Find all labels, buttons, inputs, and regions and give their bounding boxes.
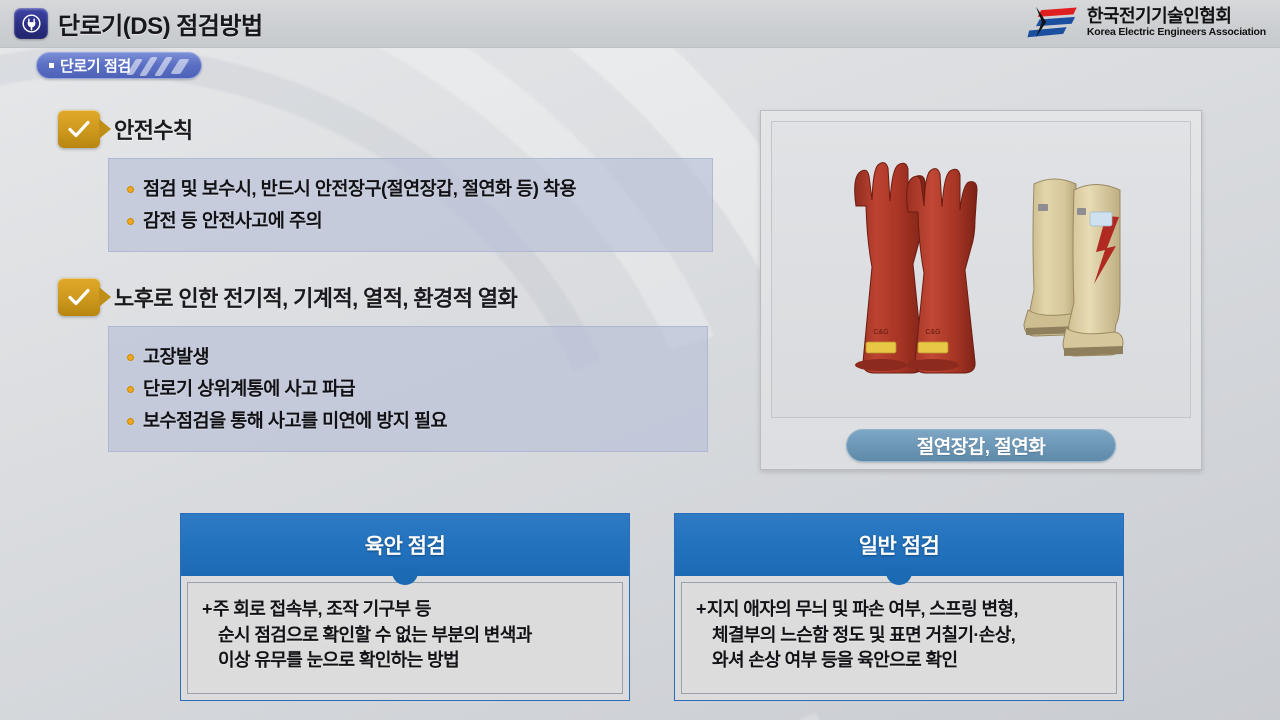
association-name-ko: 한국전기기술인협회 [1087, 7, 1266, 25]
bullet-text: 감전 등 안전사고에 주의 [143, 209, 322, 233]
section-header: 안전수칙 [58, 110, 713, 148]
bullet-text: 보수점검을 통해 사고를 미연에 방지 필요 [143, 409, 447, 433]
photo-panel: C&G C&G [760, 110, 1202, 470]
card-header: 일반 점검 [675, 514, 1123, 576]
bullet-box: 고장발생 단로기 상위계통에 사고 파급 보수점검을 통해 사고를 미연에 방지… [108, 326, 708, 452]
subtitle-label: 단로기 점검 [60, 55, 131, 76]
slide-canvas: 단로기(DS) 점검방법 단로기 점검 한국전기기술인협회 Korea Elec… [0, 0, 1280, 720]
association-names: 한국전기기술인협회 Korea Electric Engineers Assoc… [1087, 7, 1266, 38]
card-title: 육안 점검 [365, 530, 446, 560]
subtitle-bullet-icon [49, 63, 54, 68]
title-row: 단로기(DS) 점검방법 [10, 6, 263, 41]
svg-text:C&G: C&G [925, 329, 940, 336]
card-line-text: 지지 애자의 무늬 및 파손 여부, 스프링 변형, [707, 599, 1018, 619]
bullet-row: 보수점검을 통해 사고를 미연에 방지 필요 [127, 405, 687, 437]
disconnector-plug-icon [14, 8, 48, 39]
card-line: 체결부의 느슨함 정도 및 표면 거칠기·손상, [696, 623, 1102, 649]
card-body: +지지 애자의 무늬 및 파손 여부, 스프링 변형, 체결부의 느슨함 정도 … [681, 582, 1117, 694]
bullet-dot-icon [127, 354, 134, 361]
check-badge-icon [58, 278, 100, 316]
card-visual-inspection: 육안 점검 +주 회로 접속부, 조작 기구부 등 순시 점검으로 확인할 수 … [180, 513, 630, 701]
bullet-row: 단로기 상위계통에 사고 파급 [127, 373, 687, 405]
subtitle-pill[interactable]: 단로기 점검 [36, 52, 202, 79]
section-title: 노후로 인한 전기적, 기계적, 열적, 환경적 열화 [114, 281, 517, 313]
plus-marker-icon: + [202, 599, 212, 619]
card-line: 이상 유무를 눈으로 확인하는 방법 [202, 648, 608, 674]
bullet-box: 점검 및 보수시, 반드시 안전장구(절연장갑, 절연화 등) 착용 감전 등 … [108, 158, 713, 252]
bullet-dot-icon [127, 218, 134, 225]
card-line-text: 주 회로 접속부, 조작 기구부 등 [213, 599, 431, 619]
bullet-row: 점검 및 보수시, 반드시 안전장구(절연장갑, 절연화 등) 착용 [127, 173, 692, 205]
bullet-dot-icon [127, 186, 134, 193]
section-safety-rules: 안전수칙 점검 및 보수시, 반드시 안전장구(절연장갑, 절연화 등) 착용 … [58, 110, 713, 252]
section-header: 노후로 인한 전기적, 기계적, 열적, 환경적 열화 [58, 278, 713, 316]
bullet-row: 고장발생 [127, 341, 687, 373]
card-general-inspection: 일반 점검 +지지 애자의 무늬 및 파손 여부, 스프링 변형, 체결부의 느… [674, 513, 1124, 701]
svg-text:C&G: C&G [873, 329, 888, 336]
bullet-text: 점검 및 보수시, 반드시 안전장구(절연장갑, 절연화 등) 착용 [143, 177, 576, 201]
kea-logo-mark [1027, 5, 1079, 39]
page-title: 단로기(DS) 점검방법 [58, 6, 263, 41]
bullet-dot-icon [127, 418, 134, 425]
card-line: +주 회로 접속부, 조작 기구부 등 [202, 597, 608, 623]
check-badge-icon [58, 110, 100, 148]
bullet-text: 단로기 상위계통에 사고 파급 [143, 377, 355, 401]
card-body: +주 회로 접속부, 조작 기구부 등 순시 점검으로 확인할 수 없는 부분의… [187, 582, 623, 694]
bullet-text: 고장발생 [143, 345, 209, 369]
association-logo: 한국전기기술인협회 Korea Electric Engineers Assoc… [1027, 5, 1266, 39]
pill-streak-decoration [125, 53, 197, 78]
plus-marker-icon: + [696, 599, 706, 619]
bullet-dot-icon [127, 386, 134, 393]
card-line: 와셔 손상 여부 등을 육안으로 확인 [696, 648, 1102, 674]
card-title: 일반 점검 [859, 530, 940, 560]
section-title: 안전수칙 [114, 113, 193, 145]
card-line: 순시 점검으로 확인할 수 없는 부분의 변색과 [202, 623, 608, 649]
card-header: 육안 점검 [181, 514, 629, 576]
bullet-row: 감전 등 안전사고에 주의 [127, 205, 692, 237]
insulating-boots-image [1022, 158, 1162, 378]
association-name-en: Korea Electric Engineers Association [1087, 27, 1266, 38]
insulating-gloves-image: C&G C&G [838, 146, 978, 396]
card-line: +지지 애자의 무늬 및 파손 여부, 스프링 변형, [696, 597, 1102, 623]
photo-caption-text: 절연장갑, 절연화 [917, 432, 1045, 459]
section-aging-deterioration: 노후로 인한 전기적, 기계적, 열적, 환경적 열화 고장발생 단로기 상위계… [58, 278, 713, 452]
photo-caption-pill: 절연장갑, 절연화 [846, 429, 1116, 462]
photo-frame: C&G C&G [771, 121, 1191, 418]
